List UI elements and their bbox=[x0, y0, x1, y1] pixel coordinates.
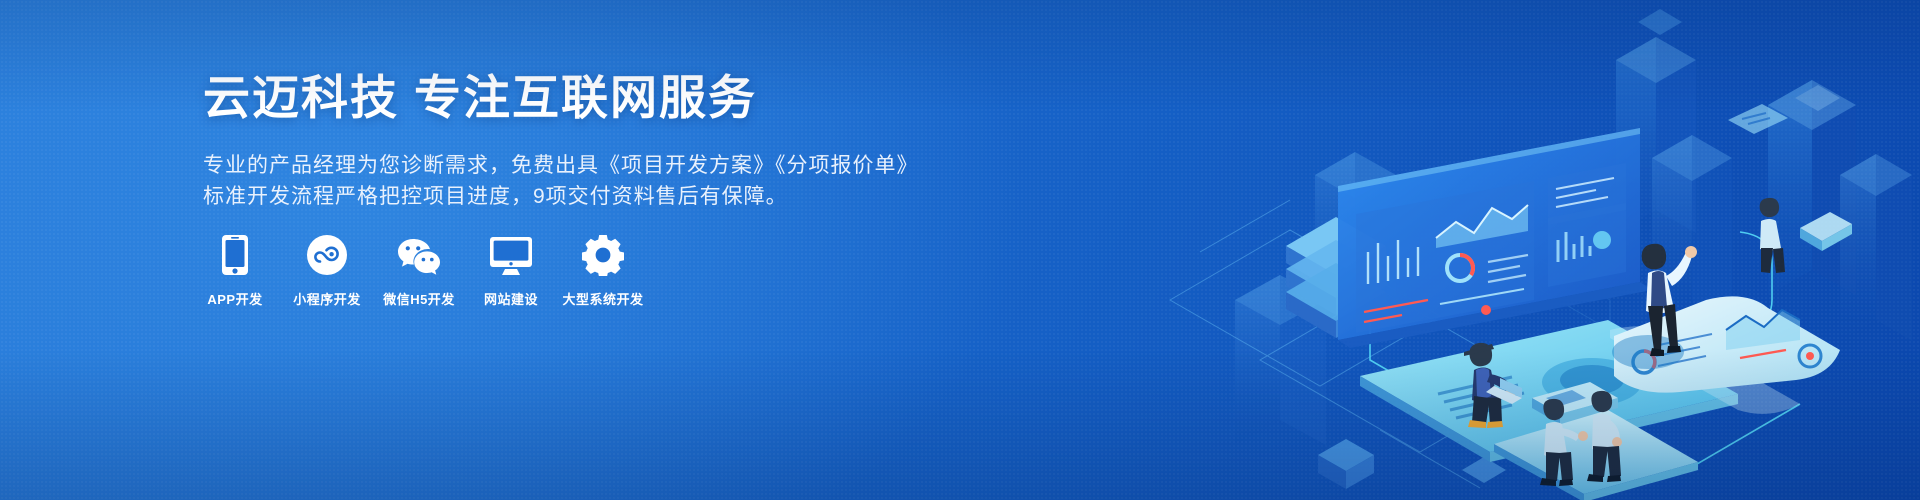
wechat-icon bbox=[396, 232, 442, 276]
service-list: APP开发 小程序开发 bbox=[200, 232, 642, 308]
subtitle-line-2: 标准开发流程严格把控项目进度，9项交付资料售后有保障。 bbox=[203, 181, 923, 212]
mobile-phone-icon bbox=[221, 232, 249, 276]
hero-banner: 云迈科技 专注互联网服务 专业的产品经理为您诊断需求，免费出具《项目开发方案》《… bbox=[0, 0, 1920, 500]
mini-program-icon bbox=[306, 232, 348, 276]
service-label: 微信H5开发 bbox=[383, 289, 455, 308]
service-item-wechat-h5[interactable]: 微信H5开发 bbox=[384, 232, 454, 308]
monitor-icon bbox=[489, 232, 533, 276]
service-item-large-system[interactable]: 大型系统开发 bbox=[568, 232, 638, 308]
page-title: 云迈科技 专注互联网服务 bbox=[203, 72, 923, 124]
service-label: 大型系统开发 bbox=[563, 289, 644, 308]
hero-copy: 云迈科技 专注互联网服务 专业的产品经理为您诊断需求，免费出具《项目开发方案》《… bbox=[203, 72, 923, 212]
hero-subtitle: 专业的产品经理为您诊断需求，免费出具《项目开发方案》《分项报价单》 标准开发流程… bbox=[203, 150, 923, 212]
subtitle-line-1: 专业的产品经理为您诊断需求，免费出具《项目开发方案》《分项报价单》 bbox=[203, 150, 923, 181]
service-label: APP开发 bbox=[207, 289, 262, 308]
service-label: 小程序开发 bbox=[293, 289, 361, 308]
service-item-app[interactable]: APP开发 bbox=[200, 232, 270, 308]
service-item-mini-program[interactable]: 小程序开发 bbox=[292, 232, 362, 308]
isometric-tech-illustration bbox=[1140, 0, 1920, 500]
service-item-website[interactable]: 网站建设 bbox=[476, 232, 546, 308]
service-label: 网站建设 bbox=[484, 289, 538, 308]
gear-icon bbox=[582, 232, 624, 276]
